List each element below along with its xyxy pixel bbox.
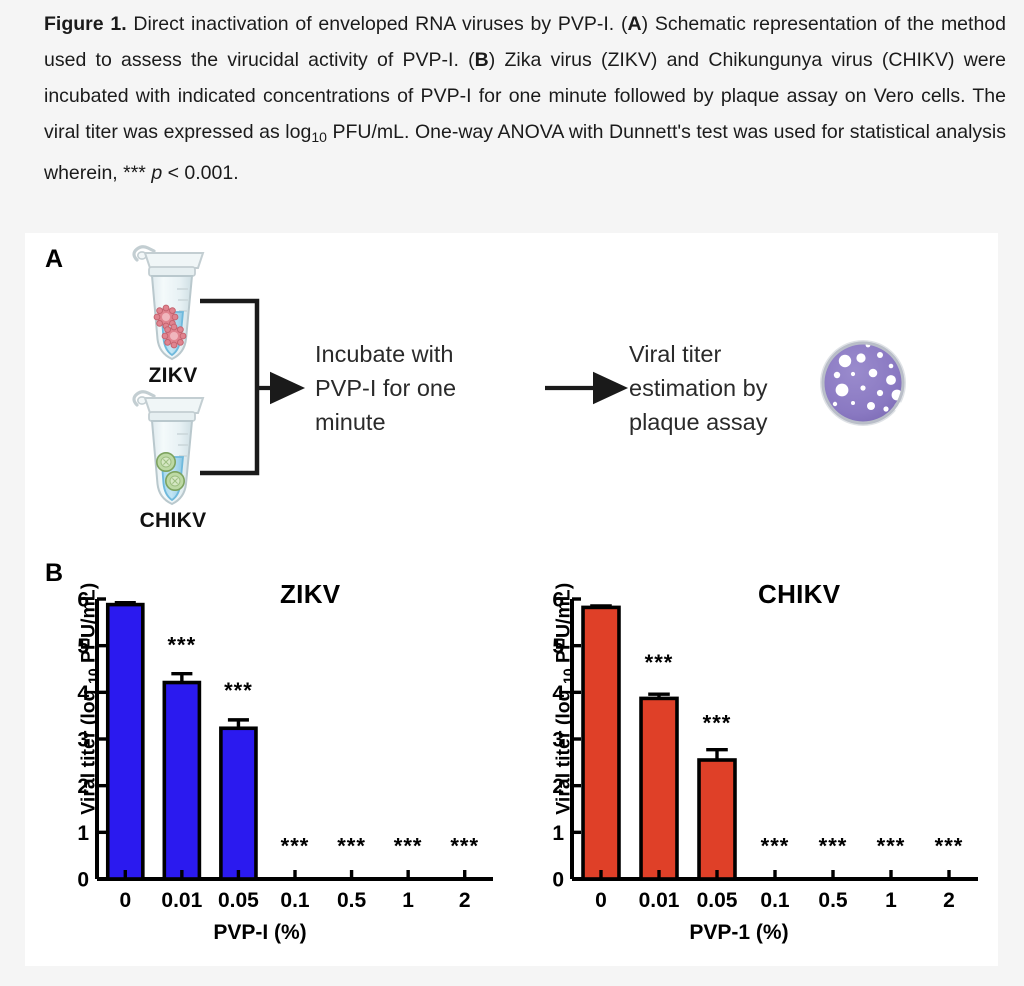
step-titer-line-2: estimation by xyxy=(629,371,829,405)
x-axis-tick-label: 1 xyxy=(402,889,414,912)
significance-marker: *** xyxy=(450,833,479,858)
significance-marker: *** xyxy=(703,711,732,736)
chart-zikv-x-axis-title: PVP-I (%) xyxy=(45,921,475,945)
figure-caption: Figure 1. Direct inactivation of envelop… xyxy=(44,6,1006,191)
x-axis-tick-label: 0.1 xyxy=(280,889,310,912)
caption-figure-label: Figure 1. xyxy=(44,13,127,35)
significance-marker: *** xyxy=(761,833,790,858)
chart-chikv-x-axis-title: PVP-1 (%) xyxy=(524,921,954,945)
step-titer-text: Viral titer estimation by plaque assay xyxy=(629,337,829,439)
significance-marker: *** xyxy=(224,678,253,703)
x-axis-tick-label: 0.01 xyxy=(161,889,202,912)
step-titer-line-3: plaque assay xyxy=(629,405,829,439)
x-axis-tick-label: 0.05 xyxy=(697,889,738,912)
significance-marker: *** xyxy=(819,833,848,858)
chart-chikv-plot: 012345600.01***0.05***0.1***0.5***1***2*… xyxy=(510,569,990,929)
chart-zikv: ZIKV Viral titer (log 10 PFU/mL) 0123456… xyxy=(35,569,505,964)
x-axis-tick-label: 0 xyxy=(119,889,131,912)
bar xyxy=(108,605,143,879)
x-axis-tick-label: 0 xyxy=(595,889,607,912)
caption-part-b-letter: B xyxy=(475,49,489,71)
x-axis-tick-label: 0.01 xyxy=(639,889,680,912)
bar xyxy=(583,607,619,879)
y-axis-tick-label: 2 xyxy=(552,775,564,798)
step-titer-line-1: Viral titer xyxy=(629,337,829,371)
y-axis-tick-label: 0 xyxy=(77,869,89,892)
panel-a-schematic: ZIKV CHIKV Incubate with PVP-I for one m… xyxy=(25,233,998,553)
caption-subscript-10: 10 xyxy=(311,129,327,145)
x-axis-tick-label: 0.5 xyxy=(818,889,848,912)
y-axis-tick-label: 4 xyxy=(552,682,564,705)
y-axis-tick-label: 1 xyxy=(552,822,564,845)
x-axis-tick-label: 2 xyxy=(943,889,955,912)
y-axis-tick-label: 2 xyxy=(77,775,89,798)
y-axis-tick-label: 6 xyxy=(77,589,89,612)
bar xyxy=(164,683,199,879)
y-axis-tick-label: 6 xyxy=(552,589,564,612)
y-axis-tick-label: 3 xyxy=(552,729,564,752)
bar xyxy=(641,698,677,879)
y-axis-tick-label: 4 xyxy=(77,682,89,705)
y-axis-tick-label: 0 xyxy=(552,869,564,892)
figure-root: Figure 1. Direct inactivation of envelop… xyxy=(0,0,1024,986)
x-axis-tick-label: 0.5 xyxy=(337,889,367,912)
chikv-tube-illustration xyxy=(134,392,203,504)
step-incubate-text: Incubate with PVP-I for one minute xyxy=(315,337,530,439)
y-axis-tick-label: 1 xyxy=(77,822,89,845)
x-axis-tick-label: 0.05 xyxy=(218,889,259,912)
significance-marker: *** xyxy=(877,833,906,858)
y-axis-tick-label: 3 xyxy=(77,729,89,752)
significance-marker: *** xyxy=(645,650,674,675)
step-incubate-line-1: Incubate with xyxy=(315,337,530,371)
caption-text-5: < 0.001. xyxy=(162,162,238,184)
significance-marker: *** xyxy=(168,633,197,658)
bar xyxy=(221,728,256,879)
significance-marker: *** xyxy=(337,833,366,858)
y-axis-tick-label: 5 xyxy=(77,635,89,658)
tube-label-zikv: ZIKV xyxy=(93,364,253,388)
y-axis-tick-label: 5 xyxy=(552,635,564,658)
chart-chikv: CHIKV Viral titer (log 10 PFU/mL) 012345… xyxy=(510,569,990,964)
bar xyxy=(699,760,735,879)
x-axis-tick-label: 1 xyxy=(885,889,897,912)
x-axis-tick-label: 2 xyxy=(459,889,471,912)
significance-marker: *** xyxy=(281,833,310,858)
tube-label-chikv: CHIKV xyxy=(93,509,253,533)
plaque-assay-plate-icon xyxy=(820,340,906,426)
caption-p-italic: p xyxy=(151,162,162,184)
figure-image-panel: A B xyxy=(25,233,998,966)
significance-marker: *** xyxy=(935,833,964,858)
zikv-tube-illustration xyxy=(134,247,203,359)
caption-part-a-letter: A xyxy=(627,13,641,35)
step-incubate-line-3: minute xyxy=(315,405,530,439)
chart-zikv-plot: 012345600.01***0.05***0.1***0.5***1***2*… xyxy=(35,569,505,929)
x-axis-tick-label: 0.1 xyxy=(760,889,790,912)
significance-marker: *** xyxy=(394,833,423,858)
caption-text-1: Direct inactivation of enveloped RNA vir… xyxy=(127,13,628,35)
step-incubate-line-2: PVP-I for one xyxy=(315,371,530,405)
